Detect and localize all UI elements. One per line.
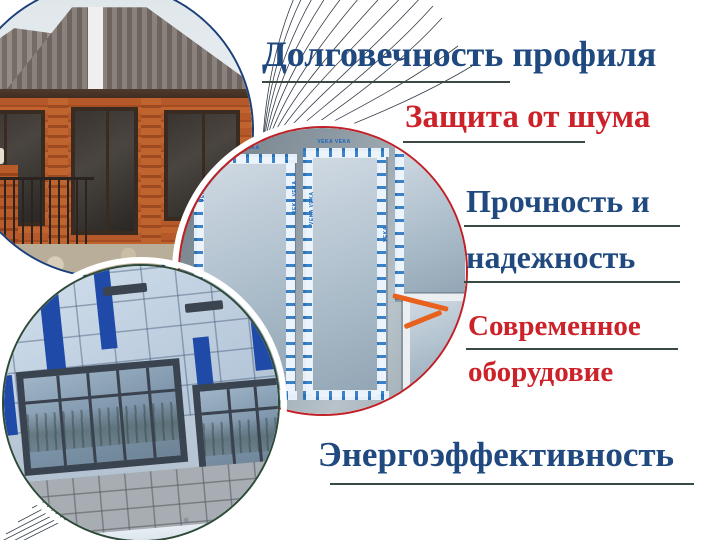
- poster-canvas: VEKA VEKA VEKA VEKA VEKA VEKA VEKA VEKA …: [0, 0, 720, 540]
- avito-watermark: Avito: [625, 507, 708, 532]
- pvc-window-c: [397, 139, 466, 299]
- heading-durability-rule: [262, 81, 510, 83]
- protective-film-b-right: [377, 151, 386, 397]
- window-center-mullion: [106, 107, 109, 235]
- protective-film-a-top: [194, 154, 297, 163]
- heading-strength: Прочность и: [466, 185, 650, 217]
- heading-equipment: оборудовие: [468, 358, 613, 387]
- glazing-transom: [26, 389, 176, 405]
- avito-wordmark: Avito: [649, 507, 708, 532]
- heading-reliability-rule: [464, 281, 680, 283]
- tree-reflection: [27, 401, 180, 452]
- shopfront-glazing-left: [16, 358, 189, 476]
- balcony-railing: [0, 177, 94, 247]
- protective-film-c-left: [395, 139, 404, 299]
- protective-film-b-top: [303, 148, 389, 157]
- photo-circle-facade: [2, 264, 280, 540]
- facade-photo: [4, 266, 278, 540]
- veka-brand-label: VEKA VEKA: [292, 180, 298, 214]
- veka-brand-label: VEKA VEKA: [200, 169, 206, 203]
- heading-noise-protection: Защита от шума: [405, 101, 650, 134]
- heading-durability: Долговечность профиля: [262, 36, 656, 72]
- heading-noise-protection-rule: [403, 141, 585, 143]
- protective-film-b-left: [303, 151, 312, 397]
- wall-lamp: [0, 148, 4, 164]
- wood-post-right: [141, 98, 161, 262]
- roof-ridge: [88, 7, 103, 95]
- avito-logo-icon: [625, 511, 645, 529]
- veka-brand-label: VEKA VEKA: [309, 192, 315, 226]
- heading-energy-efficiency: Энергоэффективность: [318, 437, 674, 472]
- veka-brand-label: VEKA VEKA VEKA: [209, 145, 260, 151]
- pvc-window-b: [306, 151, 386, 397]
- veka-brand-label: VEKA VEKA: [317, 139, 351, 145]
- heading-energy-efficiency-rule: [330, 483, 694, 485]
- protective-film-b-bottom: [303, 391, 389, 400]
- pvc-window-d: [403, 294, 466, 397]
- heading-modern-rule: [466, 348, 678, 350]
- veka-brand-label: VEKA: [383, 226, 389, 242]
- tree-reflection: [202, 416, 278, 456]
- heading-reliability: надежность: [466, 241, 635, 273]
- glazing-transom: [201, 405, 278, 415]
- heading-strength-rule: [464, 225, 680, 227]
- heading-modern: Современное: [468, 312, 641, 341]
